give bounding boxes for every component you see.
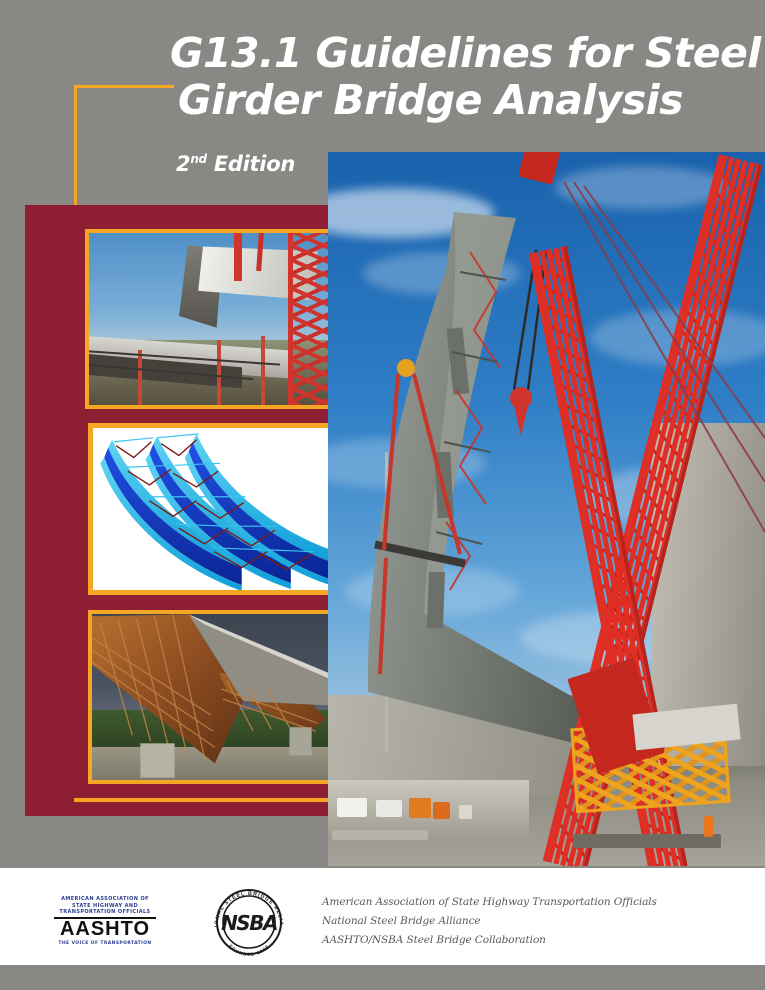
steel-beams-stack bbox=[573, 834, 722, 848]
falsework-post bbox=[261, 336, 265, 405]
hero-photo-crane-lifting-curved-girder bbox=[328, 152, 765, 866]
page-title: G13.1 Guidelines for Steel Girder Bridge… bbox=[170, 30, 700, 124]
near-pier bbox=[140, 743, 174, 777]
traffic-cone bbox=[704, 816, 713, 837]
site-vehicle bbox=[409, 798, 431, 818]
crane-cable-mast bbox=[234, 233, 242, 281]
aashto-top-line-3: Transportation Officials bbox=[50, 909, 160, 916]
falsework-post bbox=[217, 340, 221, 405]
lifting-hook-block bbox=[397, 359, 415, 377]
footer-org-line-3: AASHTO/NSBA Steel Bridge Collaboration bbox=[322, 931, 722, 950]
tub-girder-erection-photo bbox=[89, 233, 362, 405]
bridge-soffit-svg bbox=[92, 614, 362, 780]
site-vehicle bbox=[459, 805, 472, 819]
aashto-top-line-1: American Association of bbox=[50, 896, 160, 903]
thumbnail-curved-girder-fea-model bbox=[88, 423, 366, 595]
edition-word: Edition bbox=[214, 152, 295, 176]
thumbnail-tub-girder-erection bbox=[85, 229, 366, 409]
site-vehicle bbox=[433, 802, 450, 819]
falsework-post bbox=[138, 350, 142, 405]
curved-girder-fea-model-photo bbox=[93, 428, 361, 590]
footer-organization-list: American Association of State Highway Tr… bbox=[322, 893, 722, 950]
thumbnail-weathering-steel-bridge-soffit bbox=[88, 610, 366, 784]
nsba-seal-svg: NATIONAL STEEL BRIDGE ALLIANCE FOUNDED 1… bbox=[207, 886, 291, 956]
far-pier bbox=[289, 727, 311, 755]
footer-org-line-1: American Association of State Highway Tr… bbox=[322, 893, 722, 912]
fea-model-svg bbox=[93, 428, 361, 590]
footer-org-line-2: National Steel Bridge Alliance bbox=[322, 912, 722, 931]
document-cover: G13.1 Guidelines for Steel Girder Bridge… bbox=[0, 0, 765, 990]
nsba-logo: NATIONAL STEEL BRIDGE ALLIANCE FOUNDED 1… bbox=[207, 886, 291, 952]
cover-footer: American Association of State Highway an… bbox=[0, 868, 765, 965]
edition-label: 2nd Edition bbox=[176, 152, 295, 176]
aashto-logo: American Association of State Highway an… bbox=[50, 893, 160, 945]
aashto-logo-top-text: American Association of State Highway an… bbox=[50, 893, 160, 916]
accent-rule-top bbox=[74, 85, 174, 88]
site-vehicle bbox=[376, 800, 402, 817]
edition-number: 2 bbox=[176, 152, 190, 176]
aashto-tagline: The Voice of Transportation bbox=[50, 941, 160, 946]
title-line-2: Girder Bridge Analysis bbox=[178, 77, 700, 124]
weathering-steel-bridge-soffit-photo bbox=[92, 614, 362, 780]
barrier-line bbox=[332, 830, 428, 840]
site-vehicle bbox=[337, 798, 368, 817]
nsba-wordmark: NSBA bbox=[221, 911, 277, 935]
bottom-gray-strip bbox=[0, 965, 765, 990]
title-line-1: G13.1 Guidelines for Steel bbox=[170, 30, 700, 77]
edition-ordinal: nd bbox=[190, 152, 207, 166]
aashto-wordmark: AASHTO bbox=[50, 919, 160, 940]
